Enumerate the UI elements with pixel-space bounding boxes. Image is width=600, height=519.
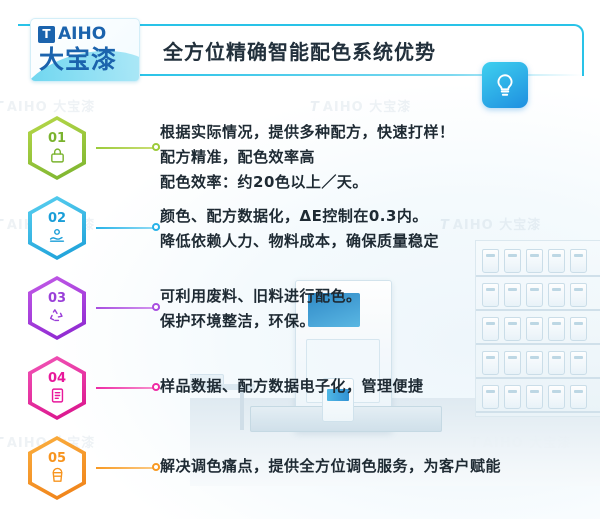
connector-line (96, 467, 160, 469)
item-text-04: 样品数据、配方数据电子化，管理便捷 (160, 374, 580, 399)
item-text-02: 颜色、配方数据化，ΔE控制在0.3内。 降低依赖人力、物料成本，确保质量稳定 (160, 204, 580, 254)
connector-dot (152, 143, 160, 151)
connector-dot (152, 223, 160, 231)
logo-wordmark: T AIHO (38, 26, 106, 43)
feature-row-02: 02 颜色、配方数据化，ΔE控制在0.3内。 降低依赖人力、物料成本，确保质量稳… (28, 196, 580, 260)
lightbulb-icon (482, 62, 528, 108)
item-line: 配色效率：约20色以上／天。 (160, 170, 580, 195)
paint-bucket-icon (49, 467, 66, 484)
connector-line (96, 147, 160, 149)
hex-inner: 05 (32, 440, 82, 496)
connector-dot (152, 303, 160, 311)
connector-05 (86, 466, 160, 470)
connector-02 (86, 226, 160, 230)
item-number: 01 (48, 132, 66, 145)
feature-row-01: 01 根据实际情况，提供多种配方，快速打样！ 配方精准，配色效率高 配色效率：约… (28, 116, 580, 180)
item-line: 颜色、配方数据化，ΔE控制在0.3内。 (160, 204, 580, 229)
hex-inner: 04 (32, 360, 82, 416)
hex-badge-01: 01 (28, 116, 86, 180)
item-line: 保护环境整洁，环保。 (160, 309, 580, 334)
watermark: TAIHO 大宝漆 (310, 96, 411, 115)
lock-icon (49, 147, 66, 164)
page-title: 全方位精确智能配色系统优势 (163, 36, 436, 65)
watermark-logo: T (0, 100, 4, 115)
item-line: 可利用废料、旧料进行配色。 (160, 284, 580, 309)
connector-03 (86, 306, 160, 310)
watermark-logo: T (310, 100, 320, 115)
item-number: 02 (48, 212, 66, 225)
item-number: 03 (48, 292, 66, 305)
item-text-03: 可利用废料、旧料进行配色。 保护环境整洁，环保。 (160, 284, 580, 334)
connector-dot (152, 383, 160, 391)
item-line: 根据实际情况，提供多种配方，快速打样！ (160, 120, 580, 145)
brand-logo: T AIHO 大宝漆 (30, 18, 140, 82)
hex-badge-04: 04 (28, 356, 86, 420)
watermark-text: AIHO 大宝漆 (323, 100, 411, 115)
watermark-logo: T (0, 218, 4, 233)
hex-badge-03: 03 (28, 276, 86, 340)
logo-chinese: 大宝漆 (39, 45, 117, 75)
feature-row-03: 03 可利用废料、旧料进行配色。 保护环境整洁，环保。 (28, 276, 580, 340)
hex-inner: 01 (32, 120, 82, 176)
hex-badge-05: 05 (28, 436, 86, 500)
recycle-icon (48, 307, 66, 324)
connector-dot (152, 463, 160, 471)
watermark-text: AIHO 大宝漆 (7, 100, 95, 115)
item-line: 样品数据、配方数据电子化，管理便捷 (160, 374, 580, 399)
item-text-05: 解决调色痛点，提供全方位调色服务，为客户赋能 (160, 454, 580, 479)
connector-01 (86, 146, 160, 150)
item-number: 05 (48, 452, 66, 465)
document-data-icon (49, 387, 66, 404)
item-line: 解决调色痛点，提供全方位调色服务，为客户赋能 (160, 454, 580, 479)
item-line: 配方精准，配色效率高 (160, 145, 580, 170)
poster-root: TAIHO 大宝漆 TAIHO 大宝漆 TAIHO 大宝漆 TAIHO 大宝漆 … (0, 0, 600, 519)
hex-badge-02: 02 (28, 196, 86, 260)
logo-english: AIHO (58, 26, 106, 43)
item-line: 降低依赖人力、物料成本，确保质量稳定 (160, 229, 580, 254)
item-number: 04 (48, 372, 66, 385)
hex-inner: 02 (32, 200, 82, 256)
connector-line (96, 387, 160, 389)
connector-04 (86, 386, 160, 390)
connector-line (96, 307, 160, 309)
watermark-logo: T (0, 436, 4, 451)
hand-coin-icon (48, 227, 66, 244)
feature-row-05: 05 解决调色痛点，提供全方位调色服务，为客户赋能 (28, 436, 580, 500)
feature-row-04: 04 样品数据、配方数据电子化，管理便捷 (28, 356, 580, 420)
poster-header: T AIHO 大宝漆 全方位精确智能配色系统优势 (18, 18, 582, 80)
connector-line (96, 227, 160, 229)
item-text-01: 根据实际情况，提供多种配方，快速打样！ 配方精准，配色效率高 配色效率：约20色… (160, 120, 580, 195)
logo-mark-icon: T (38, 26, 55, 43)
hex-inner: 03 (32, 280, 82, 336)
watermark: TAIHO 大宝漆 (0, 96, 95, 115)
